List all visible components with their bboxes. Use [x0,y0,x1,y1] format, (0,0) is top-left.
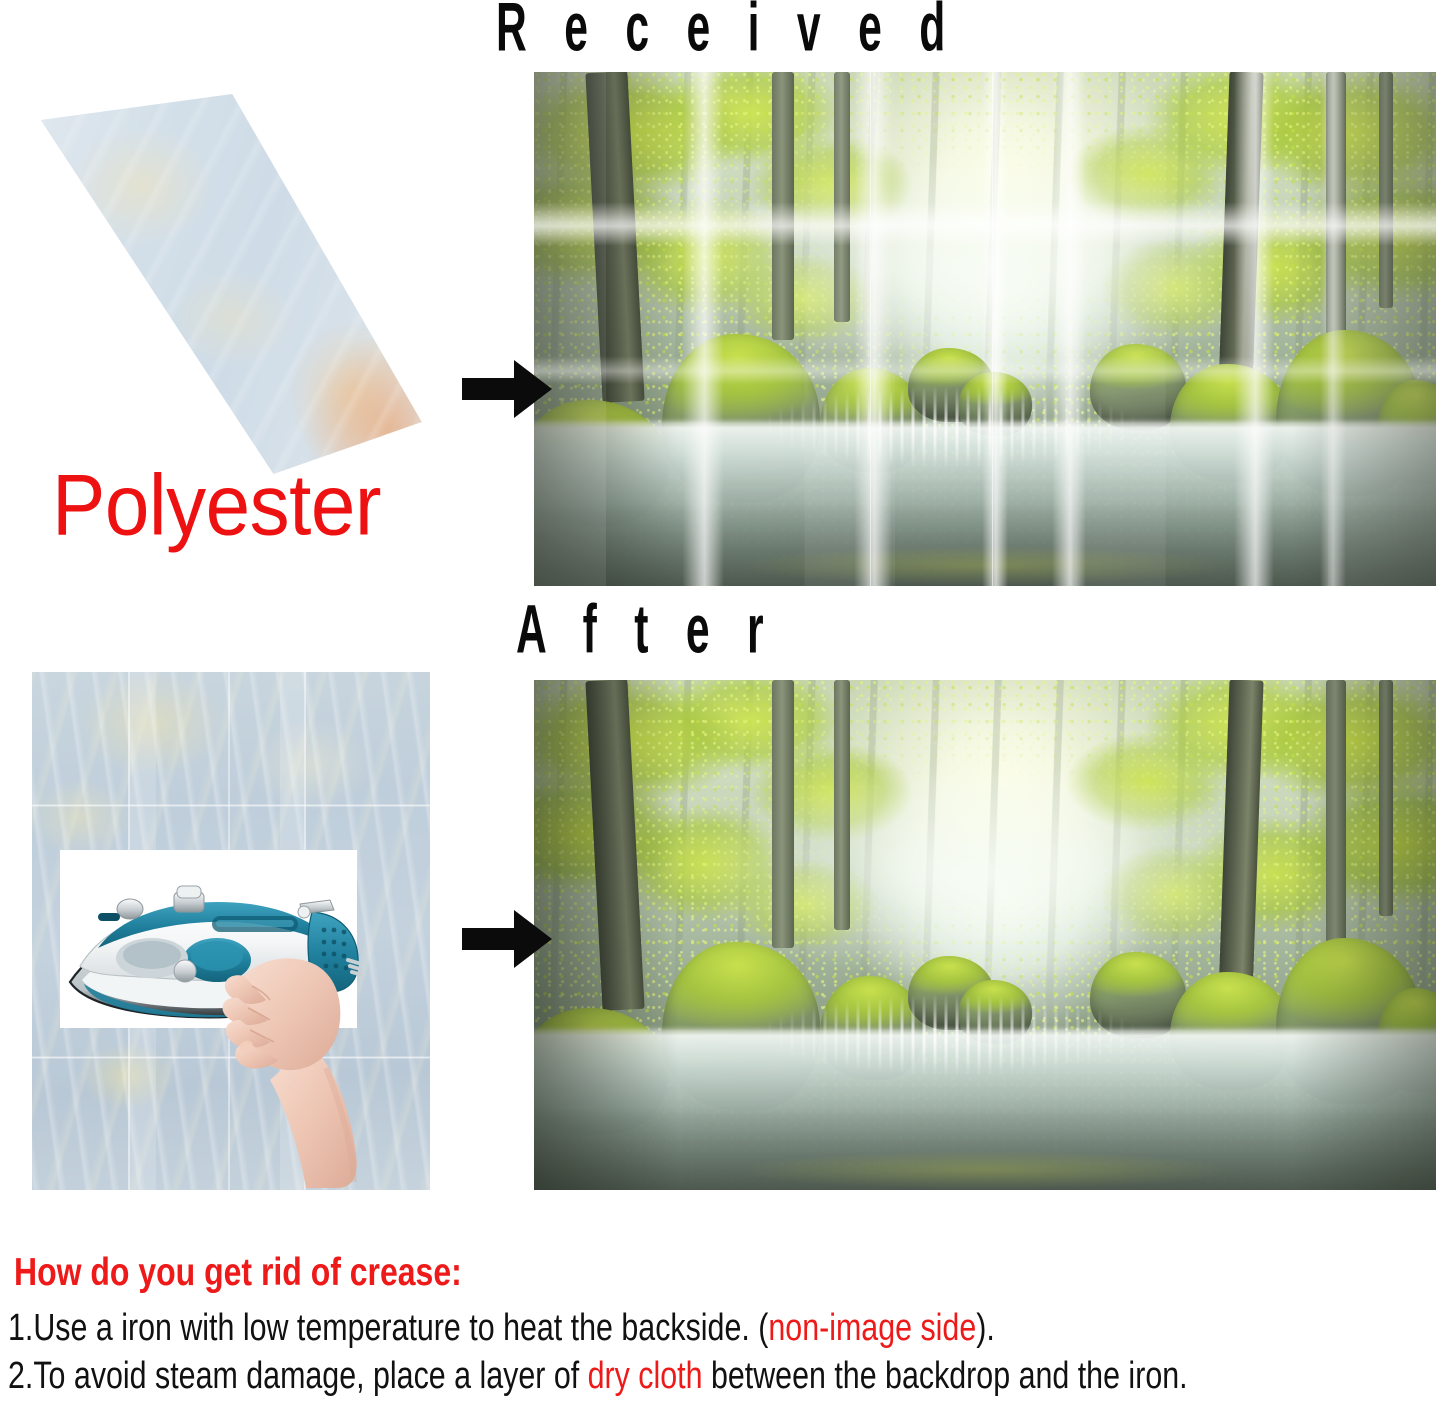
fabric-edge-shading [18,78,430,478]
instruction-2-suffix: between the backdrop and the iron. [703,1355,1188,1397]
forest-vignette [534,72,1436,586]
right-arrow-icon [462,358,552,420]
after-heading: A f t e r [516,596,776,665]
instruction-2-highlight: dry cloth [588,1355,703,1397]
instruction-line-1: 1.Use a iron with low temperature to hea… [8,1309,995,1347]
folded-polyester-backdrop [18,78,430,478]
instruction-1-highlight: non-image side [768,1307,976,1349]
creased-forest-backdrop [534,72,1436,586]
instruction-2-prefix: 2.To avoid steam damage, place a layer o… [8,1355,588,1397]
forest-vignette [534,680,1436,1190]
instruction-1-suffix: ). [976,1307,995,1349]
received-heading: R e c e i v e d [496,0,958,62]
fabric-fold-line [32,804,430,807]
smooth-forest-backdrop [534,680,1436,1190]
right-arrow-icon [462,908,552,970]
polyester-material-label: Polyester [52,462,381,548]
hand-icon [222,916,372,1190]
instruction-line-2: 2.To avoid steam damage, place a layer o… [8,1357,1188,1395]
instruction-1-prefix: 1.Use a iron with low temperature to hea… [8,1307,768,1349]
crease-instructions-heading: How do you get rid of crease: [14,1253,462,1292]
